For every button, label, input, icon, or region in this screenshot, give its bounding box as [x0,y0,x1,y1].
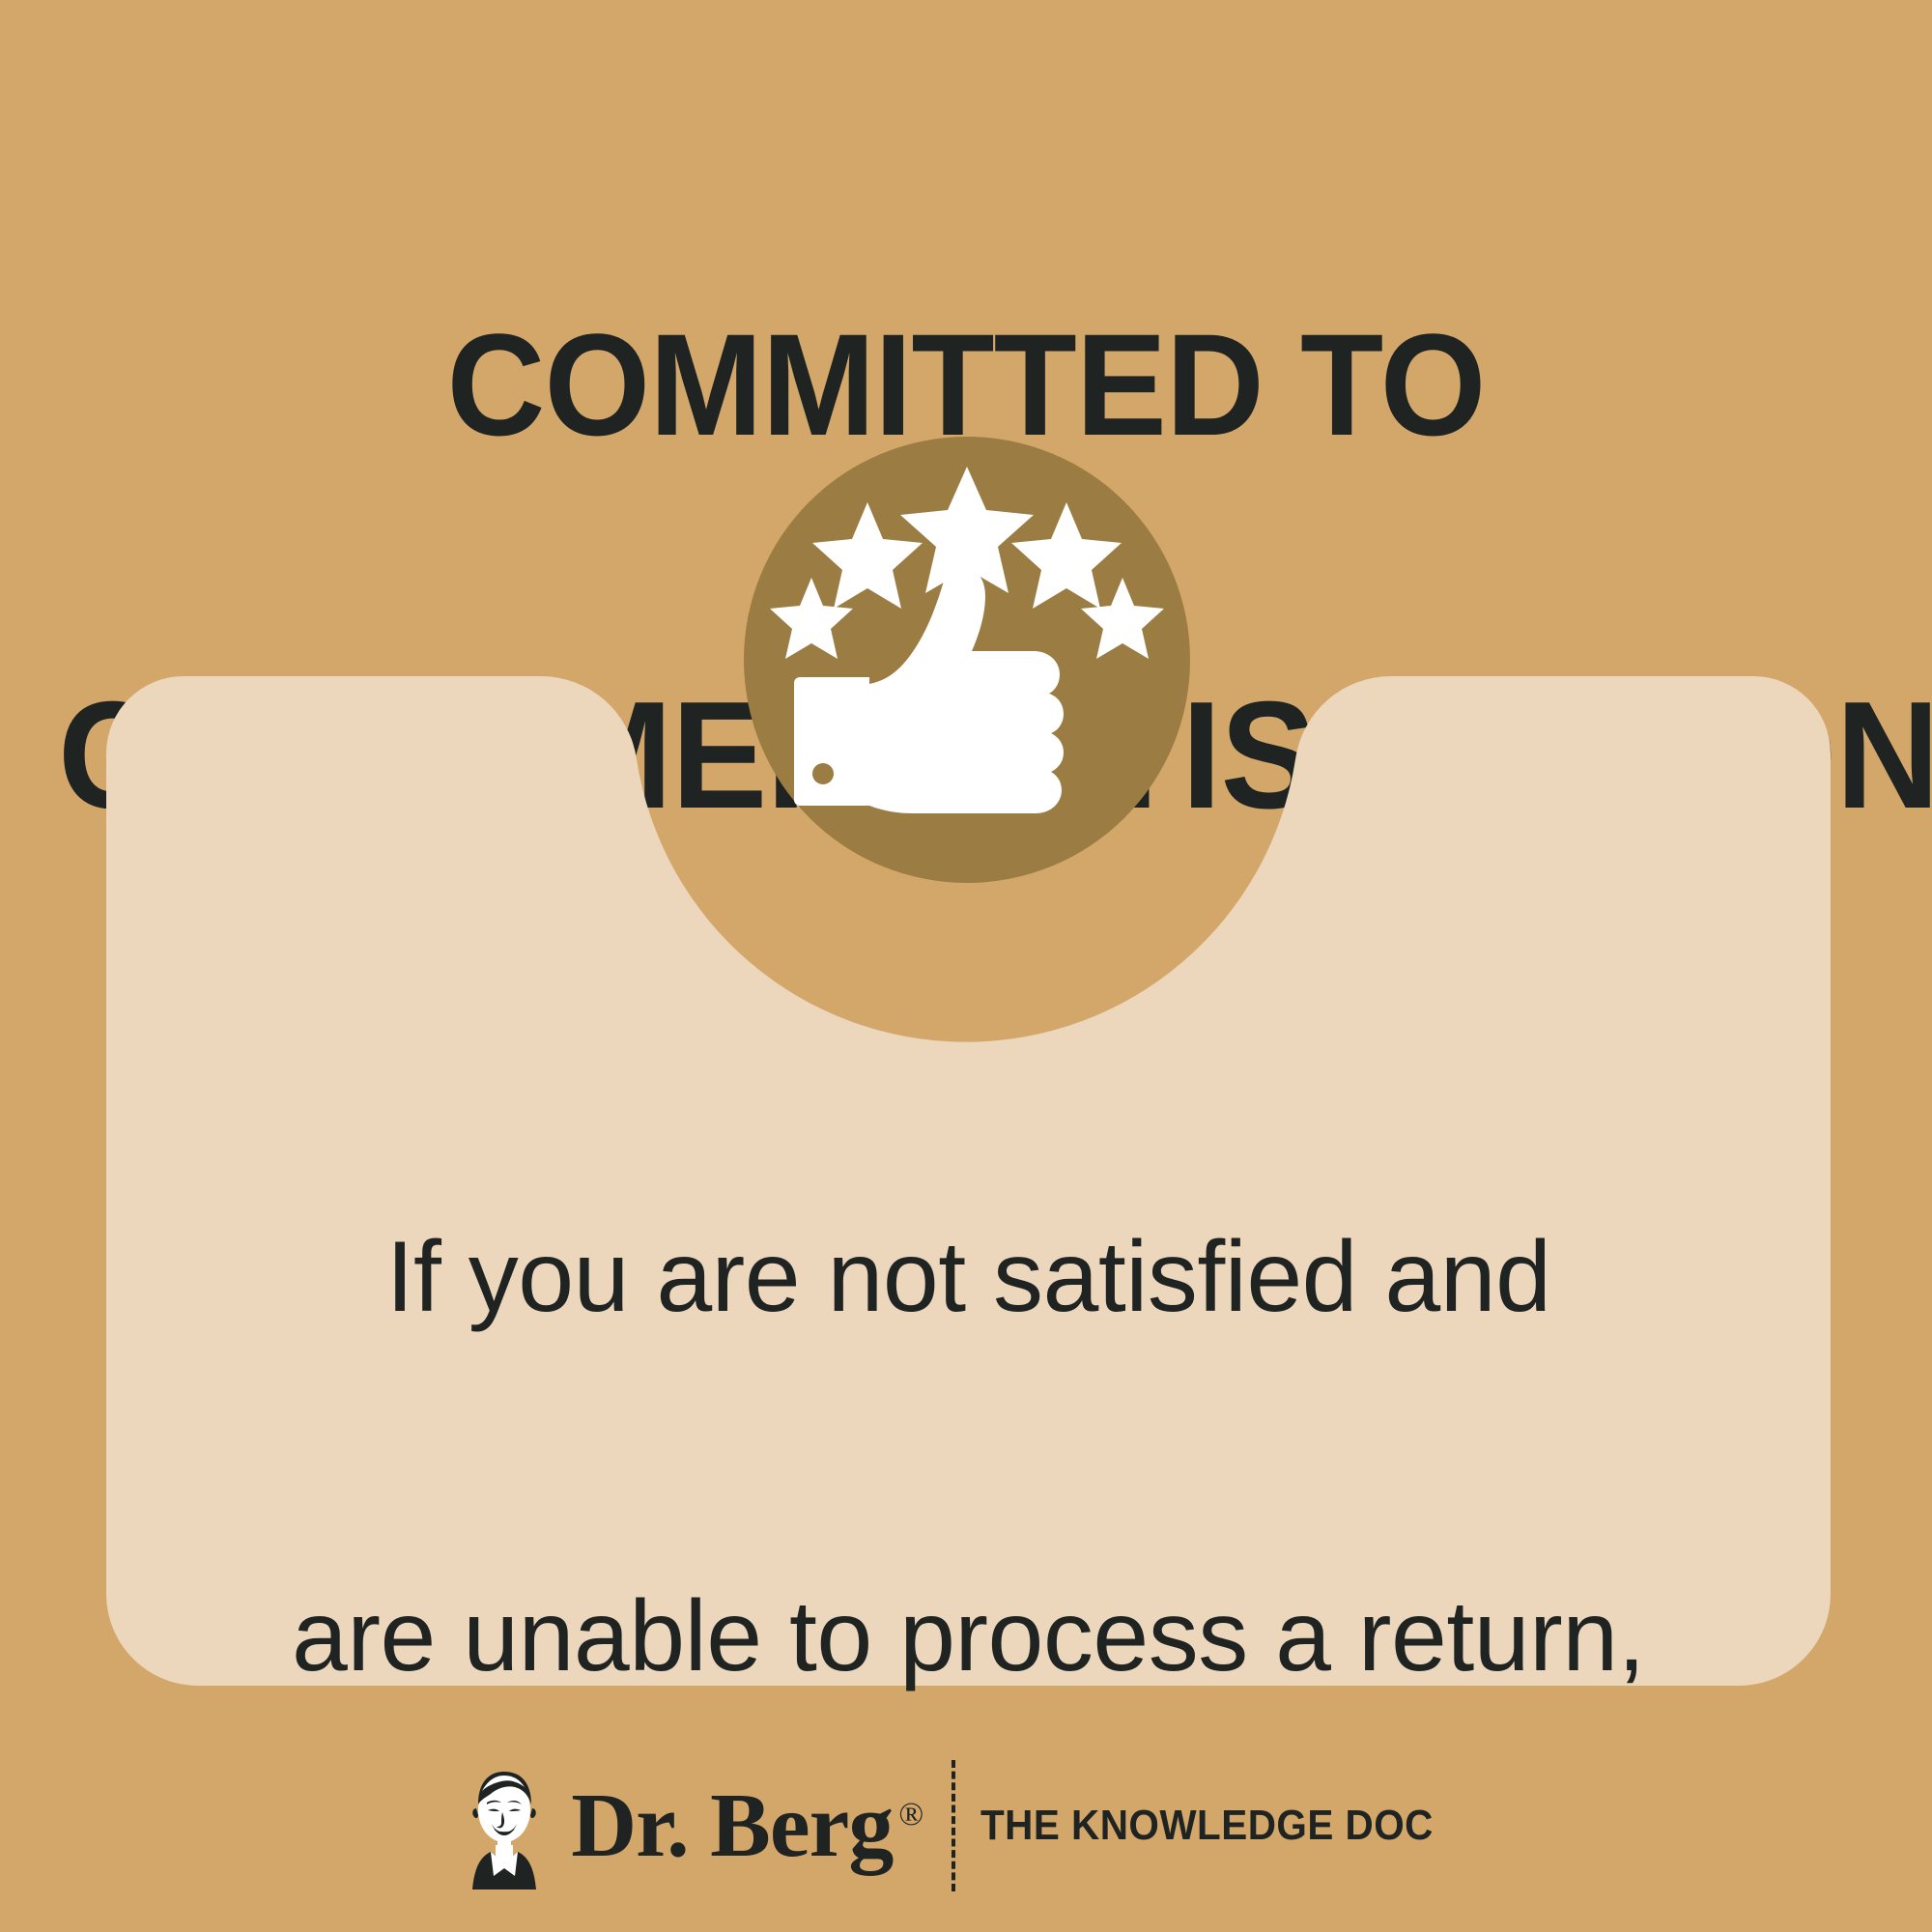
thumbs-up-icon [794,566,1064,813]
satisfaction-badge [744,437,1190,883]
lockup-divider [952,1760,955,1891]
brand-lockup: Dr. Berg® THE KNOWLEDGE DOC [0,1760,1932,1891]
badge-artwork [744,437,1190,883]
brand-name: Dr. Berg [571,1776,893,1876]
dr-berg-portrait-icon [459,1762,550,1889]
registered-trademark-icon: ® [898,1797,923,1833]
body-text-line-2: are unable to process a return, [106,1577,1831,1696]
poster-canvas: COMMITTED TO CUSTOMER SATISFACTION [0,0,1932,1932]
body-text-line-1: If you are not satisfied and [106,1217,1831,1337]
brand-tagline: THE KNOWLEDGE DOC [980,1802,1434,1850]
brand-wordmark: Dr. Berg® [571,1779,923,1872]
page-title-line-1: COMMITTED TO [58,323,1874,446]
